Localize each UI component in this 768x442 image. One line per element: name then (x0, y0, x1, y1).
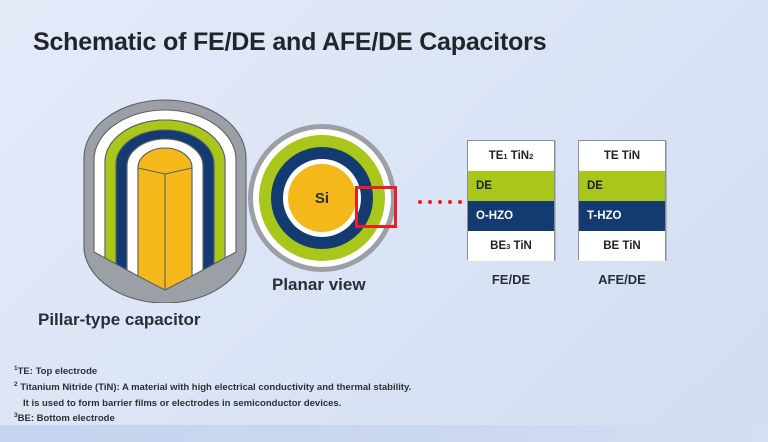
layer-de-b: DE (579, 171, 665, 201)
layer-top-electrode-a: TE1 TiN2 (468, 141, 554, 171)
footnote-text-2b: It is used to form barrier films or elec… (23, 398, 341, 409)
footnote-number-2: 2 (14, 381, 18, 388)
footnote-marker-2: 2 (529, 152, 533, 161)
footnotes-block: 1TE: Top electrode 2 Titanium Nitride (T… (14, 364, 554, 427)
layer-label-tin-be-a: TiN (514, 240, 532, 252)
layer-label-be-a: BE (490, 240, 506, 252)
footnote-marker-1: 1 (503, 152, 507, 161)
footnote-1: 1TE: Top electrode (14, 364, 554, 380)
page-title: Schematic of FE/DE and AFE/DE Capacitors (33, 28, 546, 57)
footnote-2-continued: It is used to form barrier films or elec… (14, 396, 554, 412)
layer-top-electrode-b: TE TiN (579, 141, 665, 171)
connector-dot (438, 200, 442, 204)
connector-dot (458, 200, 462, 204)
highlight-red-box (355, 186, 397, 228)
footnote-marker-3: 3 (506, 242, 510, 251)
stack-label-afe-de: AFE/DE (578, 272, 666, 287)
connector-dot (428, 200, 432, 204)
layer-label-te-a: TE (489, 150, 504, 162)
layer-t-hzo-b: T-HZO (579, 201, 665, 231)
footnote-text-3: BE: Bottom electrode (18, 413, 115, 424)
footnote-text-1: TE: Top electrode (18, 366, 98, 377)
footnote-text-2: Titanium Nitride (TiN): A material with … (20, 382, 411, 393)
layer-o-hzo-a: O-HZO (468, 201, 554, 231)
footnote-2: 2 Titanium Nitride (TiN): A material wit… (14, 380, 554, 396)
slide-canvas: Schematic of FE/DE and AFE/DE Capacitors (0, 0, 768, 442)
connector-dot (448, 200, 452, 204)
pillar-caption: Pillar-type capacitor (38, 310, 201, 330)
callout-dotted-connector (418, 200, 462, 204)
layer-de-a: DE (468, 171, 554, 201)
bottom-accent-band (0, 425, 768, 442)
stack-label-fe-de: FE/DE (467, 272, 555, 287)
planar-caption: Planar view (272, 275, 366, 295)
stack-diagram-fe-de: TE1 TiN2 DE O-HZO BE3 TiN (467, 140, 555, 260)
layer-bottom-electrode-b: BE TiN (579, 231, 665, 261)
stack-diagram-afe-de: TE TiN DE T-HZO BE TiN (578, 140, 666, 260)
footnote-3: 3BE: Bottom electrode (14, 411, 554, 427)
layer-bottom-electrode-a: BE3 TiN (468, 231, 554, 261)
layer-label-tin-a: TiN (511, 150, 529, 162)
connector-dot (418, 200, 422, 204)
planar-silicon-core: Si (288, 164, 356, 232)
pillar-type-capacitor-figure (70, 98, 260, 303)
pillar-diagram-svg (70, 98, 260, 303)
